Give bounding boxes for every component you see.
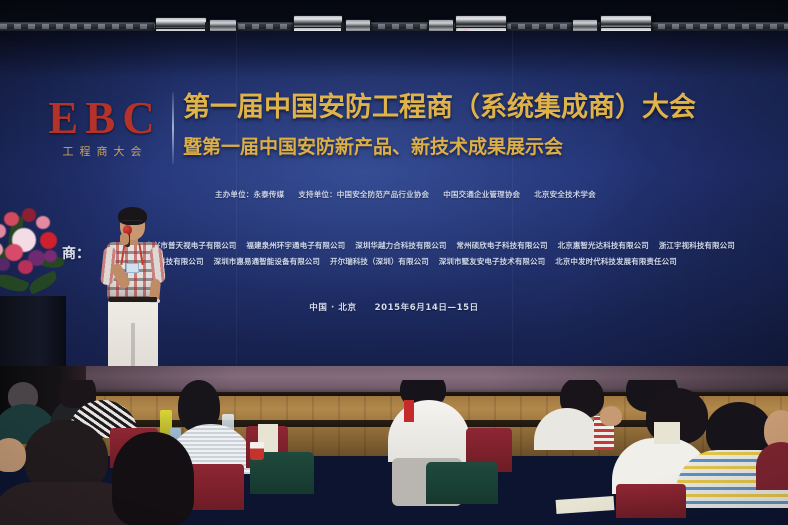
paper-cup: [250, 442, 264, 460]
exhibitor-name: 深圳市墅友安电子技术有限公司: [439, 257, 545, 266]
exhibitor-name: 开尔瑞科技（深圳）有限公司: [330, 257, 429, 266]
audience-shoulders: [388, 400, 470, 462]
chair: [426, 462, 498, 504]
exhibitor-name: 北京惠智光达科技有限公司: [558, 241, 649, 250]
ebc-subtitle: 工程商大会: [41, 143, 169, 159]
name-badge: [126, 263, 139, 273]
conference-stage-photo: EBC 工程商大会 第一届中国安防工程商（系统集成商）大会 暨第一届中国安防新产…: [0, 0, 788, 525]
audience-hand: [600, 406, 622, 426]
organizer-line: 主办单位：永泰传媒支持单位：中国安全防范产品行业协会中国交通企业管理协会北京安全…: [215, 190, 635, 200]
speaker-figure: [96, 205, 170, 390]
handout-paper: [654, 422, 680, 444]
speaker-hand: [120, 233, 129, 245]
ebc-logo: EBC 工程商大会: [41, 95, 169, 161]
handout-paper: [556, 496, 615, 514]
speaker-belt: [109, 297, 157, 302]
event-dates: 2015年6月14日—15日: [375, 303, 479, 313]
organizer-item: 中国交通企业管理协会: [443, 190, 520, 199]
chair: [186, 464, 244, 510]
exhibitor-label: 商：: [62, 243, 90, 263]
chair: [616, 484, 686, 518]
polo-collar-stripe: [404, 400, 414, 422]
exhibitor-name: 浙江宇视科技有限公司: [659, 241, 735, 250]
exhibitor-name: 深圳市惠易通智能设备有限公司: [214, 257, 320, 266]
banner-title-sub: 暨第一届中国安防新产品、新技术成果展示会: [183, 135, 783, 159]
logo-divider: [172, 92, 174, 164]
backdrop-top-shadow: [0, 31, 788, 77]
speaker-arm: [149, 246, 166, 283]
event-city: 中国 · 北京: [309, 303, 356, 313]
exhibitor-name: 深圳华越力合科技有限公司: [355, 241, 446, 250]
exhibitor-name: 常州硕欣电子科技有限公司: [456, 241, 547, 250]
organizer-item: 支持单位：中国安全防范产品行业协会: [298, 190, 429, 199]
exhibitor-name: 北京中发时代科技发展有限责任公司: [555, 257, 677, 266]
audience-area: [0, 380, 788, 525]
organizer-item: 北京安全技术学会: [534, 190, 596, 199]
truss-lattice: [0, 24, 788, 29]
exhibitor-row: 安宜居安防科技有限公司深圳市惠易通智能设备有限公司开尔瑞科技（深圳）有限公司深圳…: [120, 256, 788, 267]
exhibitor-name: 福建泉州环宇通电子有限公司: [246, 241, 345, 250]
ebc-acronym: EBC: [41, 95, 169, 141]
organizer-item: 主办单位：永泰传媒: [215, 190, 284, 199]
exhibitor-row: 公司宜兴市普天视电子有限公司福建泉州环宇通电子有限公司深圳华越力合科技有限公司常…: [120, 240, 788, 251]
banner-title-main: 第一届中国安防工程商（系统集成商）大会: [183, 92, 783, 124]
audience-head: [112, 432, 194, 525]
